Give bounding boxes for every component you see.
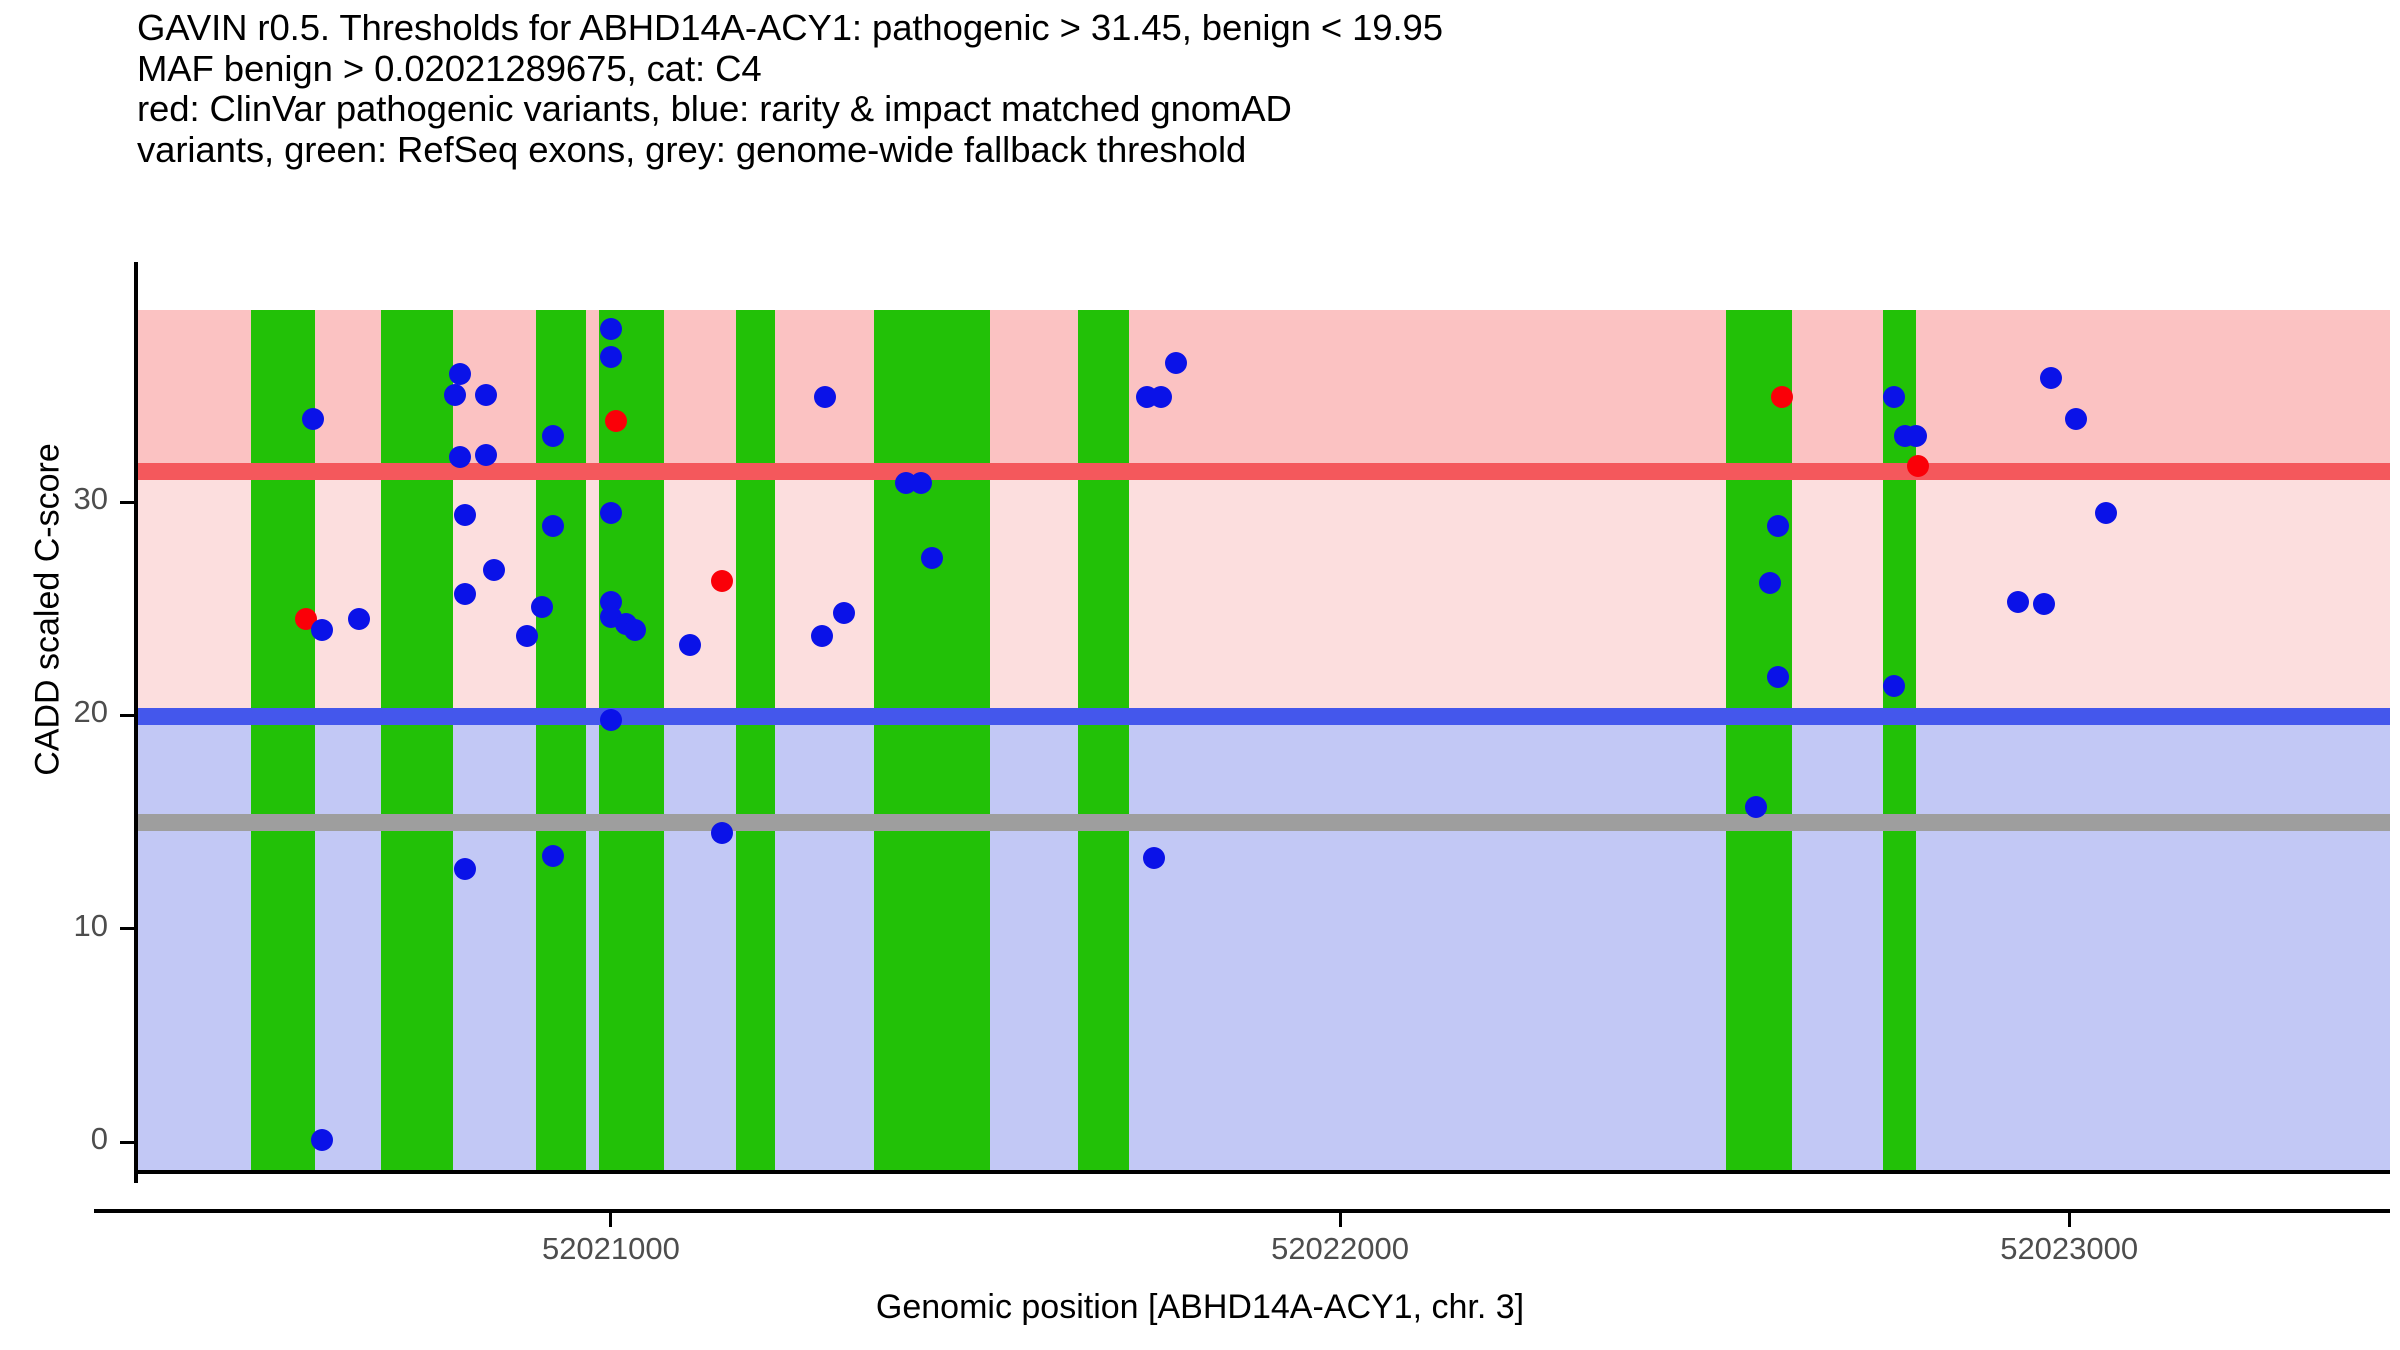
gnomad-variant-point: [2033, 593, 2055, 615]
exon-band: [874, 310, 990, 1172]
pathogenic-variant-point: [605, 410, 627, 432]
y-axis-line: [134, 262, 138, 1183]
gnomad-variant-point: [600, 318, 622, 340]
title-line-1: GAVIN r0.5. Thresholds for ABHD14A-ACY1:…: [137, 8, 2377, 49]
gnomad-variant-point: [302, 408, 324, 430]
gnomad-variant-point: [531, 596, 553, 618]
gnomad-variant-point: [814, 386, 836, 408]
exon-band: [1078, 310, 1128, 1172]
exon-band: [251, 310, 315, 1172]
zone-benign: [137, 716, 2390, 1172]
gnomad-variant-point: [910, 472, 932, 494]
x-axis-tick-label: 52022000: [1271, 1231, 1409, 1267]
gnomad-variant-point: [1905, 425, 1927, 447]
exon-band: [599, 310, 665, 1172]
gnomad-variant-point: [600, 346, 622, 368]
gnomad-variant-point: [1767, 515, 1789, 537]
y-axis-tick: [120, 714, 134, 717]
x-axis-line: [94, 1209, 2390, 1213]
x-axis-tick: [609, 1213, 612, 1227]
exon-band: [1726, 310, 1792, 1172]
gnomad-variant-point: [679, 634, 701, 656]
x-axis-tick: [1339, 1213, 1342, 1227]
y-axis-tick: [120, 1141, 134, 1144]
gnomad-variant-point: [454, 858, 476, 880]
exon-band: [736, 310, 775, 1172]
exon-band: [381, 310, 453, 1172]
gnomad-variant-point: [311, 1129, 333, 1151]
y-axis-tick: [120, 501, 134, 504]
title-line-2: MAF benign > 0.02021289675, cat: C4: [137, 49, 2377, 90]
gnomad-variant-point: [542, 845, 564, 867]
gnomad-variant-point: [449, 363, 471, 385]
fallback-threshold-line: [137, 814, 2390, 831]
gnomad-variant-point: [542, 425, 564, 447]
pathogenic-threshold-line: [137, 463, 2390, 480]
gnomad-variant-point: [921, 547, 943, 569]
benign-threshold-line: [137, 708, 2390, 725]
chart-title-block: GAVIN r0.5. Thresholds for ABHD14A-ACY1:…: [137, 8, 2377, 170]
gnomad-variant-point: [1883, 675, 1905, 697]
x-axis-title: Genomic position [ABHD14A-ACY1, chr. 3]: [0, 1288, 2400, 1327]
x-axis-tick-label: 52021000: [542, 1231, 680, 1267]
title-line-4: variants, green: RefSeq exons, grey: gen…: [137, 130, 2377, 171]
x-axis-tick: [2068, 1213, 2071, 1227]
gnomad-variant-point: [454, 583, 476, 605]
gnomad-variant-point: [475, 444, 497, 466]
gnomad-variant-point: [600, 502, 622, 524]
gnomad-variant-point: [542, 515, 564, 537]
gnomad-variant-point: [2095, 502, 2117, 524]
y-axis-title: CADD scaled C-score: [29, 290, 68, 930]
chart-root: GAVIN r0.5. Thresholds for ABHD14A-ACY1:…: [0, 0, 2400, 1350]
gnomad-variant-point: [624, 619, 646, 641]
panel-baseline: [137, 1170, 2390, 1174]
title-line-3: red: ClinVar pathogenic variants, blue: …: [137, 89, 2377, 130]
x-axis-tick-label: 52023000: [2000, 1231, 2138, 1267]
gnomad-variant-point: [454, 504, 476, 526]
gnomad-variant-point: [475, 384, 497, 406]
gnomad-variant-point: [1767, 666, 1789, 688]
plot-panel: [137, 310, 2390, 1172]
y-axis-tick-label: 0: [22, 1121, 108, 1157]
gnomad-variant-point: [1745, 796, 1767, 818]
gnomad-variant-point: [600, 709, 622, 731]
y-axis-tick: [120, 927, 134, 930]
pathogenic-variant-point: [1907, 455, 1929, 477]
